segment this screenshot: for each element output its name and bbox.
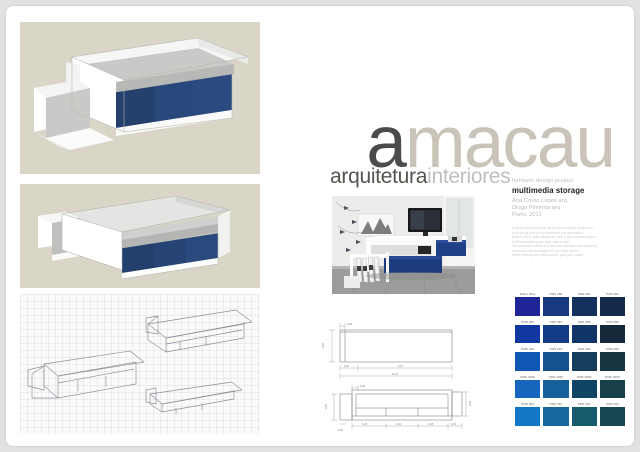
colour-swatch[interactable]: PMS 294 — [542, 346, 569, 373]
sketch-graphic — [20, 294, 260, 434]
project-title: multimedia storage — [512, 186, 624, 195]
render-panel-top — [20, 22, 260, 174]
colour-swatch[interactable]: PMS 282 — [599, 291, 626, 318]
colour-swatch[interactable]: PMS 2945 — [542, 374, 569, 401]
credits-body-line-7: Other finishing are valid options, pick … — [512, 253, 624, 258]
colour-swatch-chip — [515, 297, 540, 316]
render-top-graphic — [20, 22, 260, 174]
colour-swatch-chip — [600, 407, 625, 426]
colour-swatch[interactable]: PMS 296 — [599, 346, 626, 373]
colour-swatch-chip — [515, 325, 540, 344]
interior-photo — [332, 196, 475, 294]
colour-swatch[interactable]: PMS 280 — [542, 291, 569, 318]
colour-swatch-chip — [572, 297, 597, 316]
svg-text:12,47: 12,47 — [392, 372, 399, 376]
credits-kicker: furniture design project — [512, 178, 624, 184]
colour-swatch-chip — [543, 407, 568, 426]
colour-swatch[interactable]: PMS 300 — [514, 401, 541, 428]
colour-swatch[interactable]: Reflex Blue — [514, 291, 541, 318]
technical-drawings-graphic: 0,30 0,50 0,60 4,07 12,47 — [318, 306, 508, 432]
colour-swatch[interactable]: PMS 2965 — [599, 374, 626, 401]
colour-swatch[interactable]: PMS 293 — [514, 346, 541, 373]
colour-swatch-chip — [572, 352, 597, 371]
colour-swatch[interactable]: PMS 303 — [599, 401, 626, 428]
colour-swatch-chip — [572, 407, 597, 426]
svg-text:0,30: 0,30 — [338, 428, 344, 432]
colour-swatch-chip — [543, 380, 568, 399]
colour-swatch-chip — [543, 297, 568, 316]
colour-swatch-chip — [543, 352, 568, 371]
sketch-panel — [20, 294, 260, 434]
sub-wordmark-light: interiores — [427, 165, 510, 188]
svg-text:0,50: 0,50 — [321, 342, 325, 348]
project-sheet: amacau arquiteturainteriores furniture d… — [6, 6, 634, 446]
svg-text:0,60: 0,60 — [344, 364, 350, 368]
colour-swatch[interactable]: PMS 2955 — [571, 374, 598, 401]
colour-swatch-chip — [572, 380, 597, 399]
svg-text:3,55: 3,55 — [468, 400, 472, 406]
colour-swatch-grid: Reflex BluePMS 280PMS 281PMS 282PMS 286P… — [514, 291, 626, 428]
credits-author-1: Ana Couto Lopes arq. — [512, 198, 624, 205]
colour-swatch-chip — [515, 407, 540, 426]
svg-text:0,50: 0,50 — [324, 403, 328, 409]
colour-swatch[interactable]: PMS 281 — [571, 291, 598, 318]
credits-place-year: Porto, 2011 — [512, 212, 624, 219]
colour-swatch-chip — [600, 352, 625, 371]
colour-swatch[interactable]: PMS 289 — [599, 319, 626, 346]
render-panel-mid — [20, 184, 260, 288]
svg-text:4,07: 4,07 — [398, 364, 404, 368]
svg-text:1,20: 1,20 — [396, 422, 402, 426]
colour-swatch-chip — [600, 297, 625, 316]
svg-text:0,30: 0,30 — [360, 384, 366, 388]
colour-swatch[interactable]: PMS 288 — [571, 319, 598, 346]
colour-swatch[interactable]: PMS 2935 — [514, 374, 541, 401]
svg-text:1,20: 1,20 — [362, 422, 368, 426]
sub-wordmark: arquiteturainteriores — [330, 166, 510, 187]
interior-photo-graphic — [332, 196, 475, 294]
project-credits: furniture design project multimedia stor… — [512, 178, 624, 258]
svg-text:0,40: 0,40 — [451, 422, 457, 426]
colour-swatch[interactable]: PMS 286 — [514, 319, 541, 346]
colour-swatch-chip — [600, 380, 625, 399]
colour-swatch-chip — [572, 325, 597, 344]
sub-wordmark-dark: arquitetura — [330, 165, 427, 188]
credits-author-2: Diogo Pimenta arq. — [512, 205, 624, 212]
svg-text:0,48: 0,48 — [428, 422, 434, 426]
technical-drawings: 0,30 0,50 0,60 4,07 12,47 — [318, 306, 508, 432]
colour-swatch[interactable]: PMS 295 — [571, 346, 598, 373]
svg-text:0,30: 0,30 — [347, 322, 353, 326]
colour-swatch[interactable]: PMS 301 — [542, 401, 569, 428]
render-mid-graphic — [20, 184, 260, 288]
credits-body: A simple and functional design for a mod… — [512, 226, 624, 258]
colour-swatch[interactable]: PMS 287 — [542, 319, 569, 346]
colour-swatch-chip — [543, 325, 568, 344]
colour-swatch[interactable]: PMS 302 — [571, 401, 598, 428]
colour-swatch-chip — [515, 352, 540, 371]
colour-swatch-chip — [600, 325, 625, 344]
colour-swatch-chip — [515, 380, 540, 399]
